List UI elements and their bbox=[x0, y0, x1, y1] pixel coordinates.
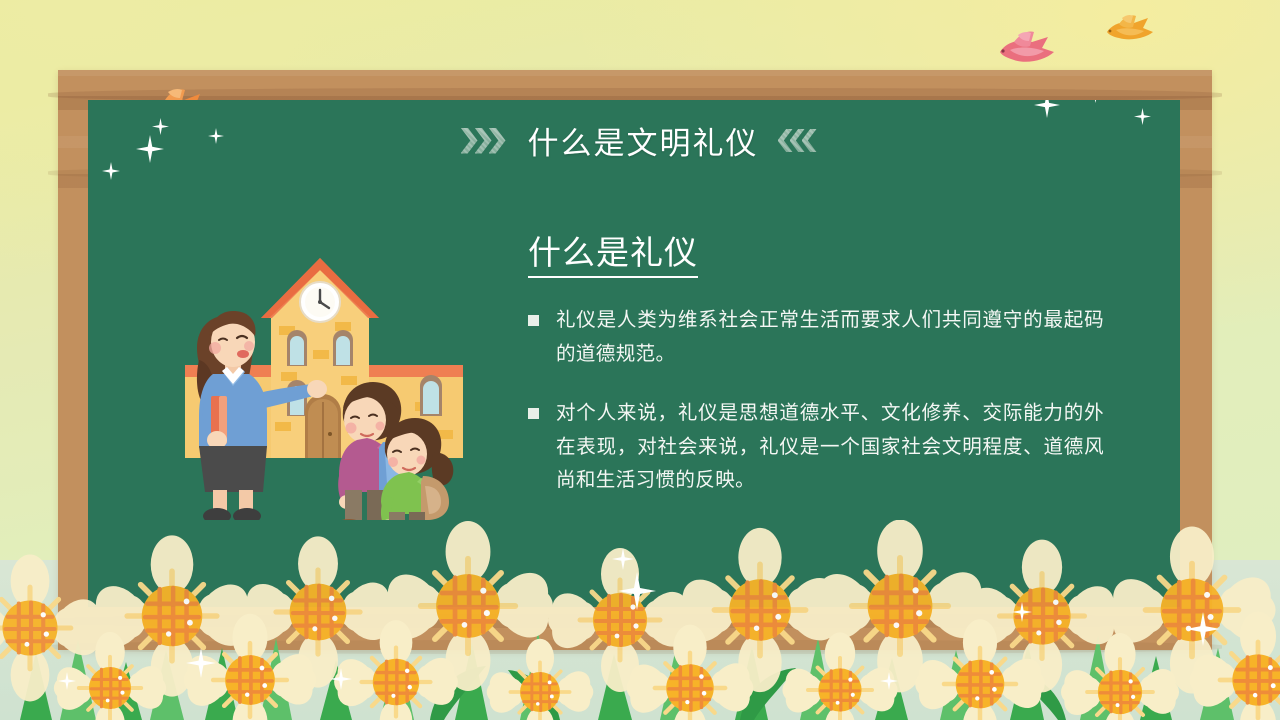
bullet-item: 对个人来说，礼仪是思想道德水平、文化修养、交际能力的外在表现，对社会来说，礼仪是… bbox=[528, 397, 1104, 498]
daisy-flower-field bbox=[0, 520, 1280, 720]
bullet-list: 礼仪是人类为维系社会正常生活而要求人们共同遵守的最起码的道德规范。 对个人来说，… bbox=[528, 304, 1104, 498]
pink-bird bbox=[996, 28, 1058, 71]
illustration-teacher-and-students bbox=[175, 252, 475, 520]
square-bullet-icon bbox=[528, 315, 539, 326]
orange-bird bbox=[1104, 12, 1156, 49]
bullet-text: 礼仪是人类为维系社会正常生活而要求人们共同遵守的最起码的道德规范。 bbox=[556, 304, 1104, 371]
chevrons-right-icon bbox=[464, 128, 506, 154]
chevrons-left-icon bbox=[781, 129, 817, 152]
content-block: 什么是礼仪 礼仪是人类为维系社会正常生活而要求人们共同遵守的最起码的道德规范。 … bbox=[528, 236, 1104, 524]
page-title: 什么是文明礼仪 bbox=[528, 118, 759, 163]
section-subheading: 什么是礼仪 bbox=[528, 236, 698, 278]
sparkle-star-icon bbox=[102, 162, 120, 180]
sparkle-star-icon bbox=[1034, 100, 1060, 118]
title-row: 什么是文明礼仪 bbox=[0, 118, 1280, 163]
square-bullet-icon bbox=[528, 408, 539, 419]
bullet-item: 礼仪是人类为维系社会正常生活而要求人们共同遵守的最起码的道德规范。 bbox=[528, 304, 1104, 371]
slide-canvas: 什么是礼仪 礼仪是人类为维系社会正常生活而要求人们共同遵守的最起码的道德规范。 … bbox=[0, 0, 1280, 720]
sparkle-star-icon bbox=[1088, 100, 1103, 103]
bullet-text: 对个人来说，礼仪是思想道德水平、文化修养、交际能力的外在表现，对社会来说，礼仪是… bbox=[556, 397, 1104, 498]
